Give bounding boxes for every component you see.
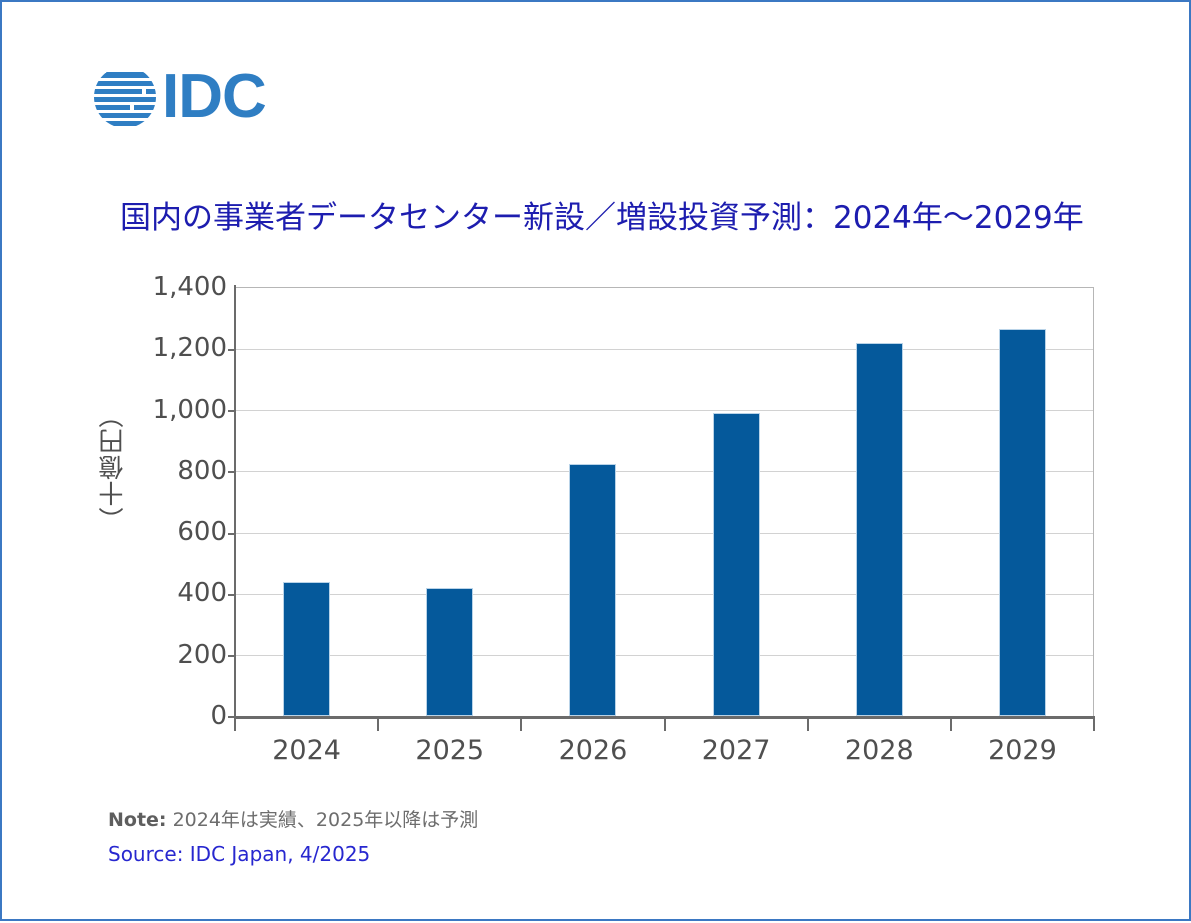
y-tick-label: 800 <box>177 456 227 486</box>
x-tick-mark <box>664 719 666 731</box>
note-line: Note: 2024年は実績、2025年以降は予測 <box>108 805 478 832</box>
bar-cell <box>235 287 378 716</box>
y-tick-label: 1,200 <box>153 333 227 363</box>
x-tick-label: 2024 <box>235 735 378 775</box>
x-axis-ticks <box>235 719 1094 731</box>
bar-cell <box>808 287 951 716</box>
y-tick-label: 1,000 <box>153 395 227 425</box>
x-tick-cell <box>378 719 521 731</box>
x-tick-mark <box>807 719 809 731</box>
x-tick-cell <box>951 719 1094 731</box>
bar-chart: （十億円） 1,400 1,200 1,000 800 600 400 200 … <box>2 2 1191 923</box>
y-tick-label: 0 <box>210 701 227 731</box>
bar-cell <box>665 287 808 716</box>
x-tick-mark <box>1093 719 1095 731</box>
x-tick-cell <box>808 719 951 731</box>
x-tick-cell <box>521 719 664 731</box>
bar-series <box>235 287 1094 716</box>
bar-2024[interactable] <box>283 582 330 716</box>
x-axis-labels: 2024 2025 2026 2027 2028 2029 <box>235 735 1094 775</box>
y-tick-label: 1,400 <box>153 272 227 302</box>
bar-cell <box>378 287 521 716</box>
x-tick-cell <box>665 719 808 731</box>
x-tick-mark <box>234 719 236 731</box>
slide-page: IDC 国内の事業者データセンター新設／増設投資予測：2024年～2029年 （… <box>0 0 1191 921</box>
bar-cell <box>951 287 1094 716</box>
x-tick-label: 2025 <box>378 735 521 775</box>
y-tick-label: 600 <box>177 517 227 547</box>
x-tick-label: 2027 <box>665 735 808 775</box>
x-tick-label: 2026 <box>521 735 664 775</box>
x-tick-mark <box>377 719 379 731</box>
bar-2027[interactable] <box>713 413 760 716</box>
bar-2029[interactable] <box>999 329 1046 716</box>
y-tick-label: 400 <box>177 578 227 608</box>
bar-2025[interactable] <box>426 588 473 716</box>
x-tick-mark <box>520 719 522 731</box>
y-axis-labels: 1,400 1,200 1,000 800 600 400 200 0 <box>132 287 227 716</box>
x-tick-label: 2028 <box>808 735 951 775</box>
note-label: Note: <box>108 809 167 831</box>
y-axis-title: （十億円） <box>95 402 135 532</box>
x-tick-mark <box>950 719 952 731</box>
bar-cell <box>521 287 664 716</box>
bar-2026[interactable] <box>569 464 616 716</box>
source-line: Source: IDC Japan, 4/2025 <box>108 842 370 866</box>
y-tick-label: 200 <box>177 640 227 670</box>
x-tick-cell <box>235 719 378 731</box>
note-text: 2024年は実績、2025年以降は予測 <box>167 809 479 831</box>
bar-2028[interactable] <box>856 343 903 716</box>
x-tick-label: 2029 <box>951 735 1094 775</box>
